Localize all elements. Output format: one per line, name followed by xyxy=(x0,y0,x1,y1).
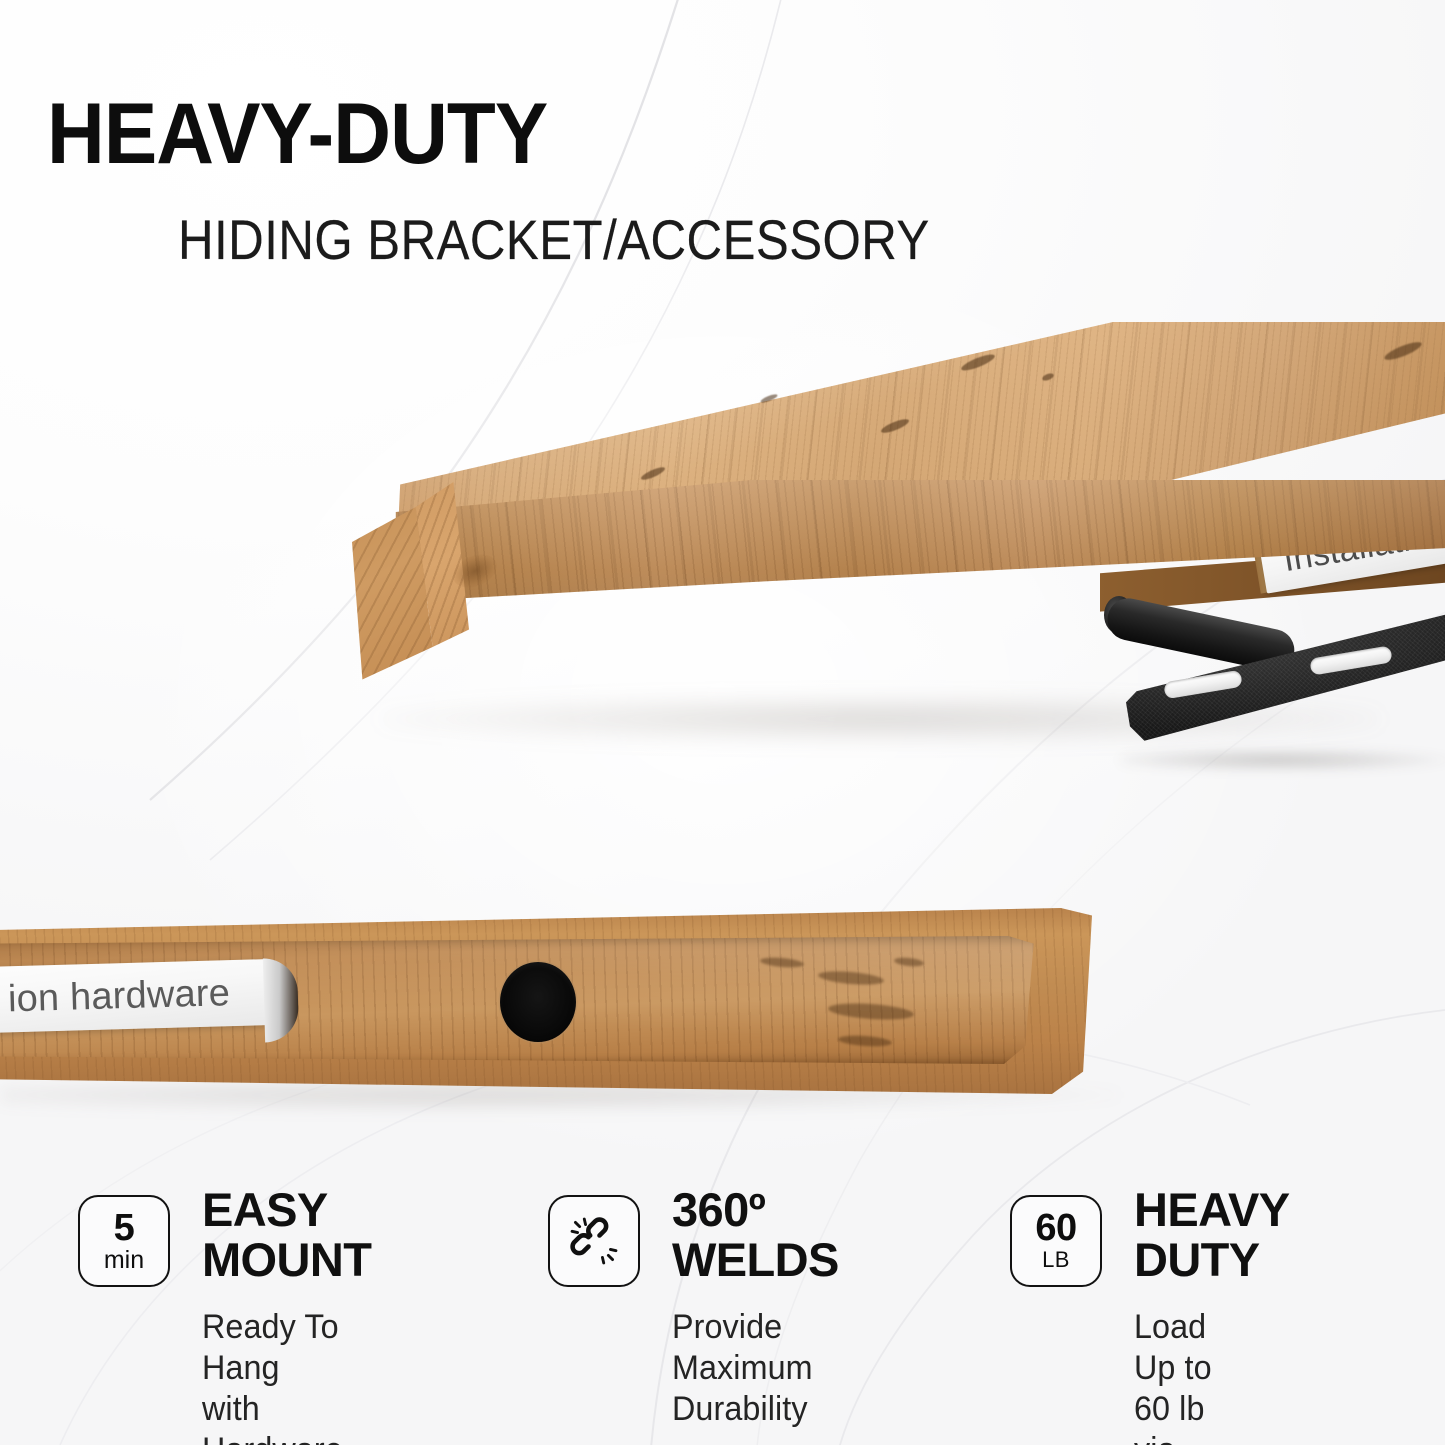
hardware-label-text: ion hardware xyxy=(7,972,230,1021)
page-title: HEAVY-DUTY xyxy=(47,91,547,177)
badge-unit: min xyxy=(104,1247,144,1273)
feature-row: 5 min EASY MOUNT Ready To Hang with Hard… xyxy=(0,1185,1445,1415)
weight-badge: 60 LB xyxy=(1010,1195,1102,1287)
badge-value: 5 xyxy=(114,1210,135,1246)
chain-link-badge xyxy=(548,1195,640,1287)
drill-hole xyxy=(500,962,576,1042)
hero-product-image: Installatio xyxy=(0,300,1445,820)
page-subtitle: HIDING BRACKET/ACCESSORY xyxy=(178,211,930,269)
timer-badge: 5 min xyxy=(78,1195,170,1287)
badge-unit: LB xyxy=(1042,1247,1070,1273)
feature-title: HEAVY DUTY xyxy=(1134,1185,1289,1285)
badge-value: 60 xyxy=(1035,1210,1076,1246)
product-infographic: HEAVY-DUTY HIDING BRACKET/ACCESSORY Inst… xyxy=(0,0,1445,1445)
bracket-drop-shadow xyxy=(1120,748,1445,772)
feature-title: EASY MOUNT xyxy=(202,1185,371,1285)
feature-description: Ready To Hang with Hardware Included xyxy=(202,1307,343,1445)
feature-description: Provide Maximum Durability xyxy=(672,1307,813,1430)
feature-description: Load Up to 60 lb via Drywall xyxy=(1134,1307,1241,1445)
chain-link-icon xyxy=(567,1214,621,1268)
feature-title: 360º WELDS xyxy=(672,1185,839,1285)
